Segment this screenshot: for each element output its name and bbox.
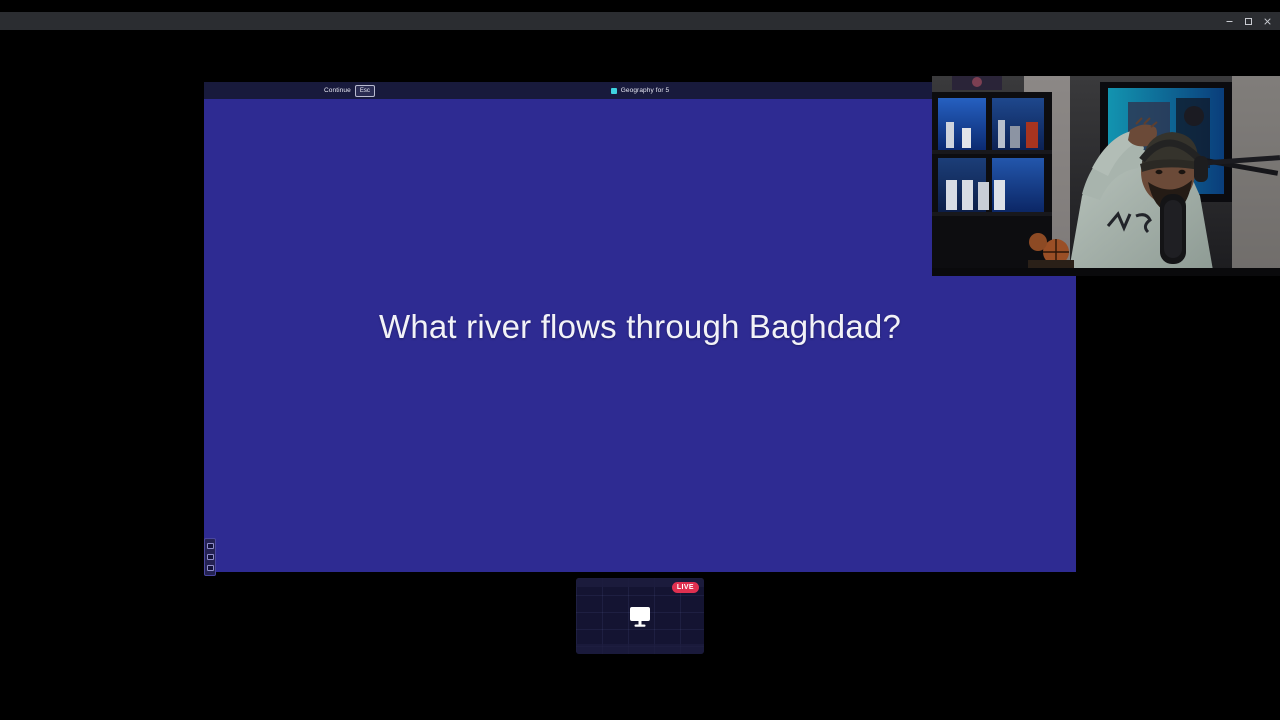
panel-bottom-bar xyxy=(576,644,704,654)
maximize-button[interactable] xyxy=(1239,12,1258,30)
window-titlebar xyxy=(0,12,1280,30)
stream-preview-panel[interactable]: LIVE xyxy=(576,578,704,654)
side-control-button-1[interactable] xyxy=(207,543,214,549)
side-control-button-3[interactable] xyxy=(207,565,214,571)
streamer-camera-overlay xyxy=(932,76,1280,276)
minimize-button[interactable] xyxy=(1220,12,1239,30)
question-text: What river flows through Baghdad? xyxy=(379,308,901,346)
live-status-badge: LIVE xyxy=(672,582,699,593)
monitor-icon[interactable] xyxy=(627,603,653,629)
side-control-button-2[interactable] xyxy=(207,554,214,560)
slide-side-controls[interactable] xyxy=(204,538,216,576)
close-button[interactable] xyxy=(1258,12,1277,30)
screen-root: Continue Esc Geography for 5 Reveal Corr… xyxy=(0,0,1280,720)
